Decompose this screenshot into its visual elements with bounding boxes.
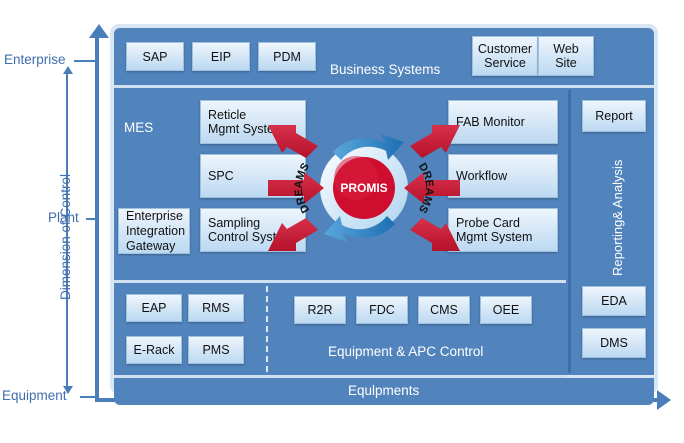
box-workflow[interactable]: Workflow	[448, 154, 558, 198]
divider-dashed-apc	[266, 286, 268, 372]
axis-tick-label-enterprise: Enterprise	[4, 52, 66, 67]
box-eap[interactable]: EAP	[126, 294, 182, 322]
mes-title: MES	[124, 120, 153, 135]
reporting-analysis-title: Reporting& Analysis	[610, 150, 625, 276]
box-enterprise-integration-gateway[interactable]: Enterprise Integration Gateway	[118, 208, 190, 254]
box-r2r[interactable]: R2R	[294, 296, 346, 324]
box-spc[interactable]: SPC	[200, 154, 306, 198]
box-probe-card-mgmt-system[interactable]: Probe Card Mgmt System	[448, 208, 558, 252]
box-sampling-control-system[interactable]: Sampling Control System	[200, 208, 306, 252]
business-systems-title: Business Systems	[330, 62, 440, 77]
box-rms[interactable]: RMS	[188, 294, 244, 322]
dimension-of-control-label: Dimension of Control	[58, 174, 73, 300]
axis-arrowhead-up	[89, 24, 109, 38]
equipments-footer-title: Equlpments	[348, 383, 419, 398]
box-dms[interactable]: DMS	[582, 328, 646, 358]
axis-tick-label-equipment: Equipment	[2, 388, 67, 403]
axis-vertical-line	[95, 36, 99, 402]
dimension-arrow-down	[63, 386, 73, 394]
box-cms[interactable]: CMS	[418, 296, 470, 324]
box-fab-monitor[interactable]: FAB Monitor	[448, 100, 558, 144]
box-report[interactable]: Report	[582, 100, 646, 132]
box-eip[interactable]: EIP	[192, 42, 250, 71]
box-reticle-mgmt-system[interactable]: Reticle Mgmt System	[200, 100, 306, 144]
box-web-site[interactable]: Web Site	[538, 36, 594, 76]
box-sap[interactable]: SAP	[126, 42, 184, 71]
diagram-canvas: Enterprise Plant Equipment Dimension of …	[0, 0, 684, 443]
box-oee[interactable]: OEE	[480, 296, 532, 324]
box-fdc[interactable]: FDC	[356, 296, 408, 324]
box-customer-service[interactable]: Customer Service	[472, 36, 538, 76]
architecture-frame: Business Systems SAP EIP PDM Customer Se…	[110, 24, 658, 394]
box-pdm[interactable]: PDM	[258, 42, 316, 71]
dimension-arrow-up	[63, 66, 73, 74]
axis-arrowhead-right	[657, 390, 671, 410]
divider-reporting-left	[568, 90, 571, 373]
apc-control-title: Equipment & APC Control	[328, 344, 483, 359]
box-pms[interactable]: PMS	[188, 336, 244, 364]
box-eda[interactable]: EDA	[582, 286, 646, 316]
box-e-rack[interactable]: E-Rack	[126, 336, 182, 364]
